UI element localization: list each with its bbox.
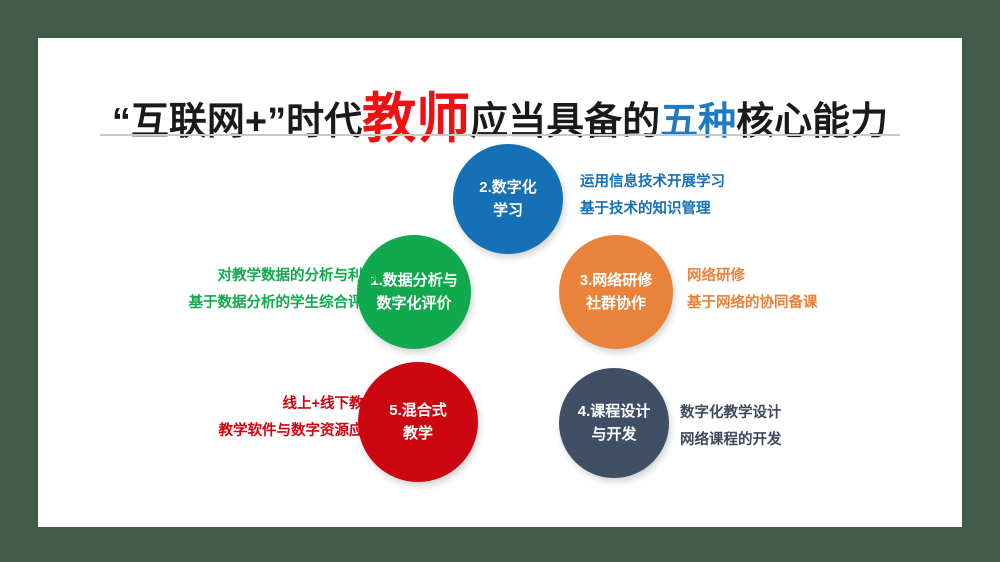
capability-circle-3[interactable]: 3.网络研修 社群协作 xyxy=(559,235,673,349)
capability-callout-3: 网络研修 基于网络的协同备课 xyxy=(687,263,818,317)
capability-callout-3-line1: 网络研修 xyxy=(687,263,818,290)
capability-callout-1-line2: 基于数据分析的学生综合评价 xyxy=(189,290,378,317)
capability-callout-1-line1: 对教学数据的分析与利用 xyxy=(189,263,378,290)
capability-callout-2-line2: 基于技术的知识管理 xyxy=(580,196,725,223)
capability-circle-2-line1: 2.数字化 xyxy=(479,176,537,199)
capability-circle-4-line1: 4.课程设计 xyxy=(578,400,651,423)
capability-circle-3-line2: 社群协作 xyxy=(586,292,646,315)
capability-callout-4-line2: 网络课程的开发 xyxy=(680,427,782,454)
capability-circle-5-line2: 教学 xyxy=(403,422,433,445)
capability-diagram: 2.数字化 学习 运用信息技术开展学习 基于技术的知识管理 1.数据分析与 数字… xyxy=(38,38,962,527)
capability-callout-1: 对教学数据的分析与利用 基于数据分析的学生综合评价 xyxy=(189,263,378,317)
slide-canvas: “互联网+”时代教师应当具备的五种核心能力 2.数字化 学习 运用信息技术开展学… xyxy=(0,0,1000,562)
capability-callout-5-line2: 教学软件与数字资源应用 xyxy=(219,418,379,445)
capability-callout-5-line1: 线上+线下教学 xyxy=(219,391,379,418)
capability-callout-4: 数字化教学设计 网络课程的开发 xyxy=(680,400,782,454)
capability-circle-2[interactable]: 2.数字化 学习 xyxy=(453,144,563,254)
capability-circle-3-line1: 3.网络研修 xyxy=(580,269,653,292)
capability-callout-4-line1: 数字化教学设计 xyxy=(680,400,782,427)
capability-callout-2-line1: 运用信息技术开展学习 xyxy=(580,169,725,196)
capability-callout-5: 线上+线下教学 教学软件与数字资源应用 xyxy=(219,391,379,445)
capability-circle-4[interactable]: 4.课程设计 与开发 xyxy=(559,368,669,478)
capability-callout-3-line2: 基于网络的协同备课 xyxy=(687,290,818,317)
slide-white-card: “互联网+”时代教师应当具备的五种核心能力 2.数字化 学习 运用信息技术开展学… xyxy=(38,38,962,527)
capability-circle-2-line2: 学习 xyxy=(493,199,523,222)
capability-callout-2: 运用信息技术开展学习 基于技术的知识管理 xyxy=(580,169,725,223)
capability-circle-1-line1: 1.数据分析与 xyxy=(370,269,458,292)
capability-circle-5-line1: 5.混合式 xyxy=(389,399,447,422)
capability-circle-1-line2: 数字化评价 xyxy=(376,292,451,315)
capability-circle-4-line2: 与开发 xyxy=(591,423,636,446)
